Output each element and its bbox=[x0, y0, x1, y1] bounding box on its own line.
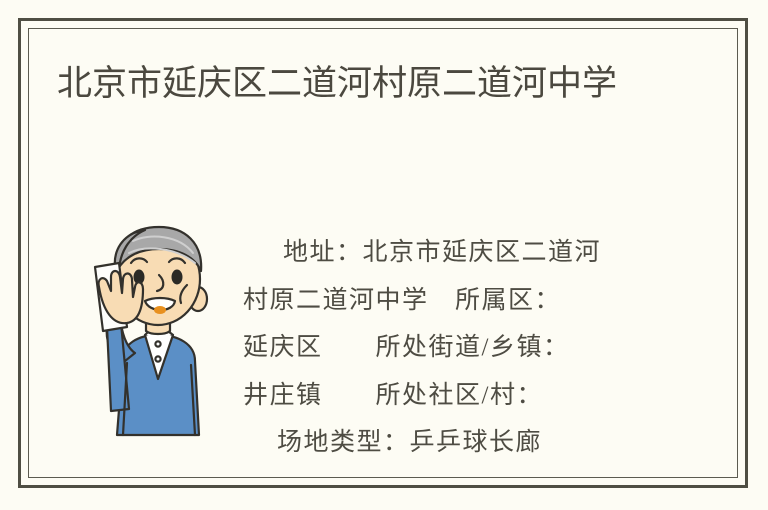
detail-line-address: 地址：北京市延庆区二道河 bbox=[243, 229, 663, 277]
page-title: 北京市延庆区二道河村原二道河中学 bbox=[57, 59, 657, 108]
detail-line-address-cont-district: 村原二道河中学 所属区： bbox=[243, 277, 663, 325]
info-card: 北京市延庆区二道河村原二道河中学 bbox=[18, 18, 748, 488]
detail-line-district-street: 延庆区 所处街道/乡镇： bbox=[243, 324, 663, 372]
detail-line-venue-type: 场地类型：乒乒球长廊 bbox=[243, 419, 663, 467]
detail-line-town-community: 井庄镇 所处社区/村： bbox=[243, 372, 663, 420]
elderly-man-holding-card-illustration bbox=[83, 211, 233, 446]
venue-details: 地址：北京市延庆区二道河 村原二道河中学 所属区： 延庆区 所处街道/乡镇： 井… bbox=[243, 229, 663, 467]
